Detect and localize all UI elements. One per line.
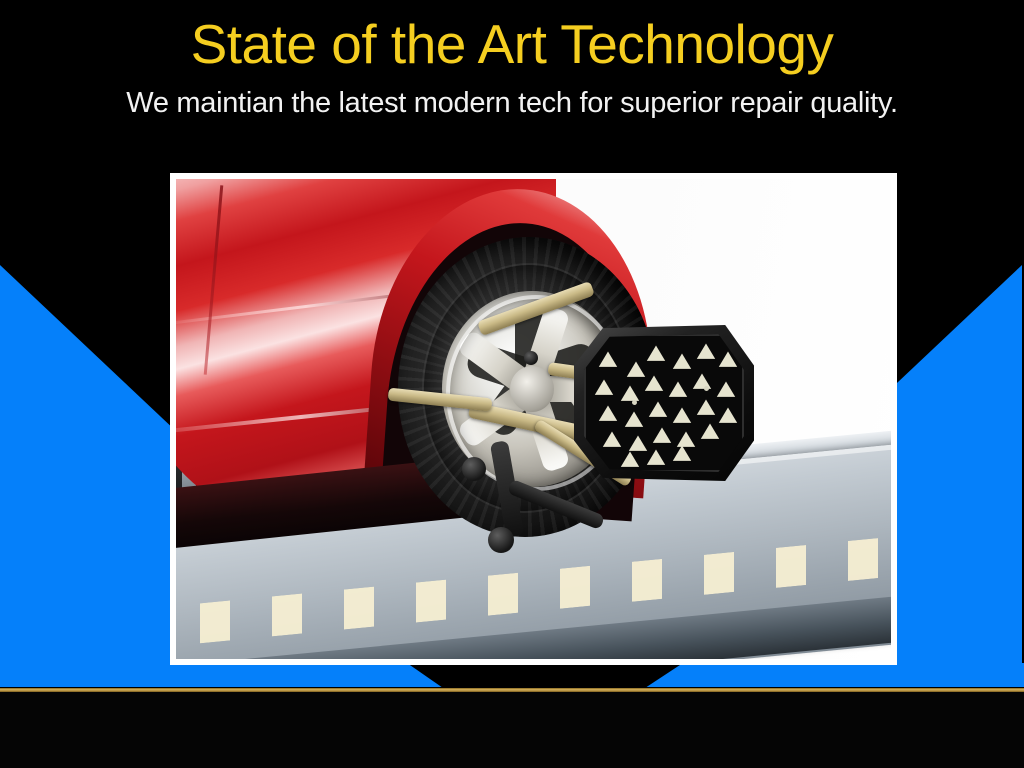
target-marker	[620, 384, 640, 402]
target-marker	[646, 344, 666, 362]
hero-photo	[176, 179, 891, 659]
hazard-stripe	[272, 594, 302, 637]
footer-bar: MIDLANDS Honda Sales (844) 805-1973 See …	[0, 692, 1024, 768]
target-marker	[672, 352, 692, 370]
hazard-stripe	[632, 559, 662, 602]
hazard-stripe	[416, 580, 446, 623]
hazard-stripe	[488, 573, 518, 616]
hazard-stripe	[560, 566, 590, 609]
target-marker	[598, 404, 618, 422]
target-marker	[672, 406, 692, 424]
ad-banner: State of the Art Technology We maintian …	[0, 0, 1024, 768]
clamp-knob-rim	[524, 351, 538, 365]
target-marker	[626, 360, 646, 378]
alignment-target-head	[574, 325, 754, 481]
target-marker	[598, 350, 618, 368]
hazard-stripe	[200, 600, 230, 643]
clamp-knob-upper	[462, 457, 486, 481]
page-title: State of the Art Technology	[0, 14, 1024, 74]
target-marker	[676, 430, 696, 448]
target-center-dot	[632, 400, 637, 405]
hazard-stripe	[848, 538, 878, 581]
hazard-stripe	[344, 587, 374, 630]
target-marker	[692, 372, 712, 390]
target-marker	[646, 448, 666, 466]
target-marker	[696, 342, 716, 360]
hero-photo-frame	[170, 173, 897, 665]
target-marker	[696, 398, 716, 416]
target-marker	[718, 406, 738, 424]
target-marker	[652, 426, 672, 444]
target-marker	[668, 380, 688, 398]
blue-accent-shape-left	[0, 255, 180, 687]
black-notch-shape	[395, 663, 695, 688]
target-marker	[718, 350, 738, 368]
target-marker	[628, 434, 648, 452]
target-ref-dot	[704, 386, 709, 391]
target-marker	[648, 400, 668, 418]
alignment-target-face	[584, 334, 744, 472]
target-marker	[716, 380, 736, 398]
target-marker	[624, 410, 644, 428]
target-marker	[620, 450, 640, 468]
page-subtitle: We maintian the latest modern tech for s…	[0, 86, 1024, 120]
clamp-knob-lower	[488, 527, 514, 553]
target-marker	[700, 422, 720, 440]
target-marker	[644, 374, 664, 392]
hazard-stripe	[704, 552, 734, 595]
target-marker	[594, 378, 614, 396]
hazard-stripe	[776, 545, 806, 588]
target-marker	[602, 430, 622, 448]
